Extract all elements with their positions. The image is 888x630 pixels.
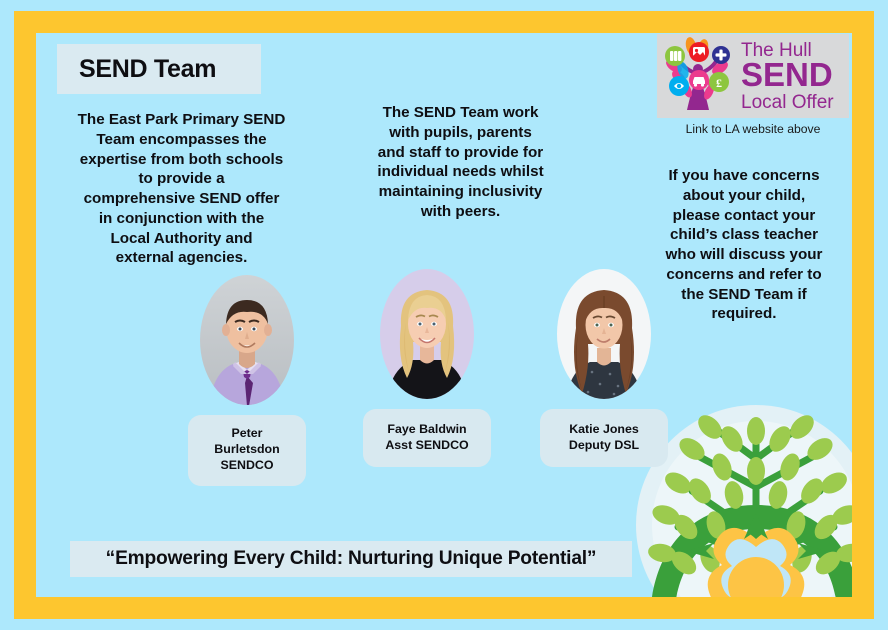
staff-role: Deputy DSL [546, 438, 662, 454]
logo-line-3: Local Offer [741, 92, 834, 113]
portrait-peter-burletsdon [199, 274, 295, 406]
nameplate-peter-burletsdon: Peter Burletsdon SENDCO [188, 415, 306, 486]
staff-card-peter-burletsdon: Peter Burletsdon SENDCO [161, 274, 333, 486]
school-motto-banner: “Empowering Every Child: Nurturing Uniqu… [70, 541, 632, 577]
send-team-poster: SEND Team The East Park Primary SEND Tea… [0, 0, 888, 630]
staff-name: Faye Baldwin [369, 422, 485, 438]
staff-card-faye-baldwin: Faye Baldwin Asst SENDCO [341, 268, 513, 467]
school-motto-text: “Empowering Every Child: Nurturing Uniqu… [106, 548, 597, 570]
staff-role: Asst SENDCO [369, 438, 485, 454]
svg-text:£: £ [716, 76, 722, 90]
logo-line-2: SEND [741, 56, 833, 93]
staff-list: Peter Burletsdon SENDCO [36, 268, 852, 528]
staff-role: SENDCO [194, 458, 300, 474]
nameplate-faye-baldwin: Faye Baldwin Asst SENDCO [363, 409, 491, 467]
nameplate-katie-jones: Katie Jones Deputy DSL [540, 409, 668, 467]
page-title: SEND Team [79, 55, 216, 84]
hull-send-local-offer-logo-link[interactable]: £ The Hull SEND Local Offer [657, 34, 849, 118]
page-title-panel: SEND Team [57, 44, 261, 94]
portrait-katie-jones [556, 268, 652, 400]
portrait-faye-baldwin [379, 268, 475, 400]
staff-name: Peter Burletsdon [194, 426, 300, 457]
intro-paragraph-middle: The SEND Team work with pupils, parents … [353, 103, 568, 222]
staff-card-katie-jones: Katie Jones Deputy DSL [518, 268, 690, 467]
logo-link-caption: Link to LA website above [644, 122, 852, 136]
staff-name: Katie Jones [546, 422, 662, 438]
intro-paragraph-left: The East Park Primary SEND Team encompas… [54, 110, 309, 268]
poster-canvas: SEND Team The East Park Primary SEND Tea… [36, 33, 852, 597]
